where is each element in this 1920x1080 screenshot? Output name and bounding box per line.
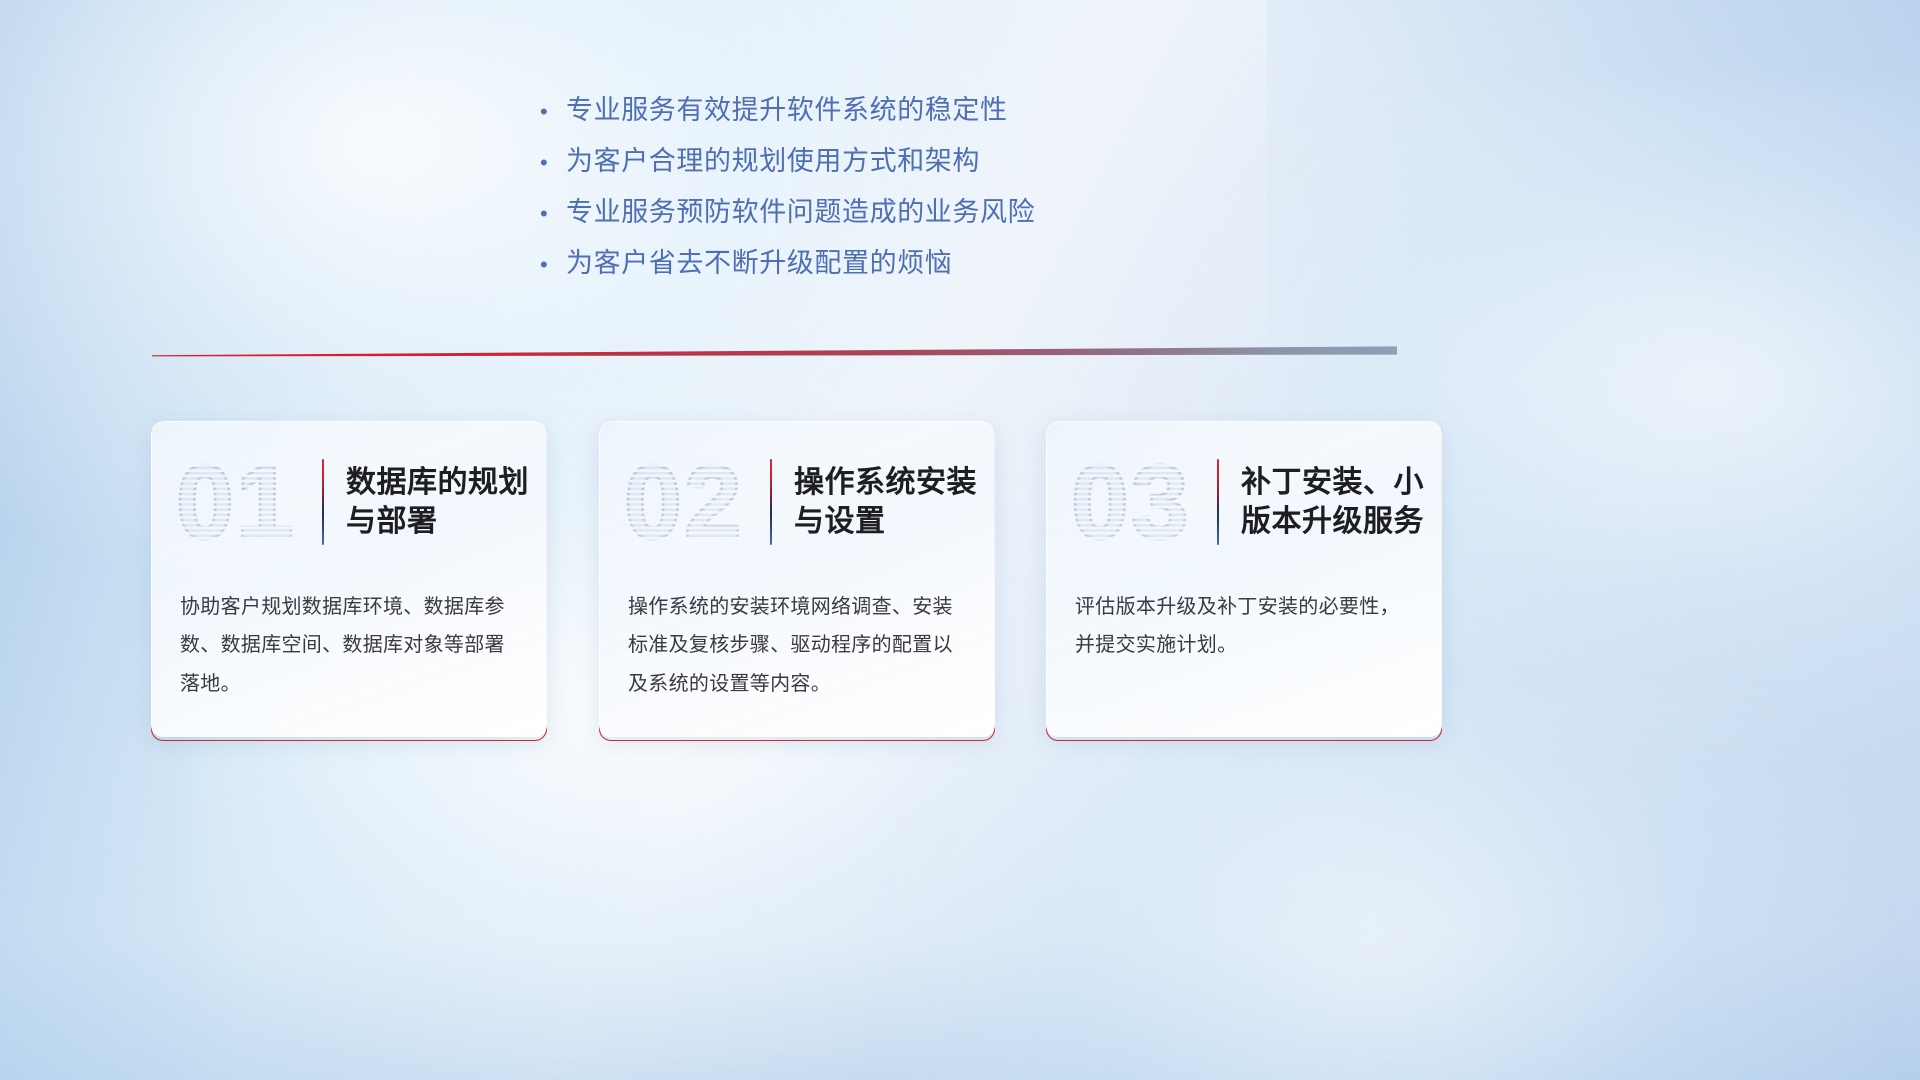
card-number-01-icon: 01 01 01 [174, 446, 322, 558]
bullet-item: • 为客户合理的规划使用方式和架构 [540, 139, 1180, 190]
card-surface: 03 03 03 补丁安装、小 版本升级服务 评估版本升级及补丁安装的必要性，并… [1046, 421, 1442, 737]
card-title: 数据库的规划 与部署 [346, 463, 529, 541]
bullet-item: • 为客户省去不断升级配置的烦恼 [540, 241, 1180, 292]
bullet-item-label: 专业服务预防软件问题造成的业务风险 [566, 190, 1035, 229]
card-header: 02 02 02 操作系统安装 与设置 [600, 442, 995, 562]
card-header: 03 03 03 补丁安装、小 版本升级服务 [1047, 442, 1442, 562]
card-title-divider [770, 459, 772, 545]
section-divider [152, 344, 1397, 362]
card-description: 评估版本升级及补丁安装的必要性，并提交实施计划。 [1075, 588, 1416, 665]
card-title: 操作系统安装 与设置 [794, 463, 977, 541]
svg-text:01: 01 [176, 446, 296, 558]
card-number-graphic: 03 03 03 [1069, 446, 1217, 558]
card-surface: 01 01 01 数据库的规划 与部署 协助客户规划数据库环境、数据库参数、数据… [151, 421, 547, 737]
card-header: 01 01 01 数据库的规划 与部署 [152, 442, 547, 562]
bullet-item: • 专业服务有效提升软件系统的稳定性 [540, 88, 1180, 139]
card-title-divider [322, 459, 324, 545]
bullet-dot-icon: • [540, 101, 566, 123]
service-card[interactable]: 01 01 01 数据库的规划 与部署 协助客户规划数据库环境、数据库参数、数据… [151, 421, 547, 741]
bullet-item-label: 专业服务有效提升软件系统的稳定性 [566, 88, 1008, 127]
bullet-dot-icon: • [540, 254, 566, 276]
bullet-list: • 专业服务有效提升软件系统的稳定性 • 为客户合理的规划使用方式和架构 • 专… [540, 88, 1180, 292]
bullet-item-label: 为客户省去不断升级配置的烦恼 [566, 241, 952, 280]
card-title-divider [1217, 459, 1219, 545]
svg-text:03: 03 [1071, 446, 1191, 558]
service-card[interactable]: 02 02 02 操作系统安装 与设置 操作系统的安装环境网络调查、安装标准及复… [599, 421, 995, 741]
card-surface: 02 02 02 操作系统安装 与设置 操作系统的安装环境网络调查、安装标准及复… [599, 421, 995, 737]
card-title: 补丁安装、小 版本升级服务 [1241, 463, 1424, 541]
service-card[interactable]: 03 03 03 补丁安装、小 版本升级服务 评估版本升级及补丁安装的必要性，并… [1046, 421, 1442, 741]
slide-canvas: • 专业服务有效提升软件系统的稳定性 • 为客户合理的规划使用方式和架构 • 专… [0, 0, 1920, 1080]
section-divider-shape [152, 344, 1397, 362]
svg-text:02: 02 [624, 446, 744, 558]
bullet-item: • 专业服务预防软件问题造成的业务风险 [540, 190, 1180, 241]
bullet-dot-icon: • [540, 203, 566, 225]
bullet-dot-icon: • [540, 152, 566, 174]
card-number-02-icon: 02 02 02 [622, 446, 770, 558]
card-description: 协助客户规划数据库环境、数据库参数、数据库空间、数据库对象等部署落地。 [180, 588, 521, 703]
card-description: 操作系统的安装环境网络调查、安装标准及复核步骤、驱动程序的配置以及系统的设置等内… [628, 588, 969, 703]
card-number-graphic: 01 01 01 [174, 446, 322, 558]
card-number-03-icon: 03 03 03 [1069, 446, 1217, 558]
bullet-item-label: 为客户合理的规划使用方式和架构 [566, 139, 980, 178]
card-number-graphic: 02 02 02 [622, 446, 770, 558]
